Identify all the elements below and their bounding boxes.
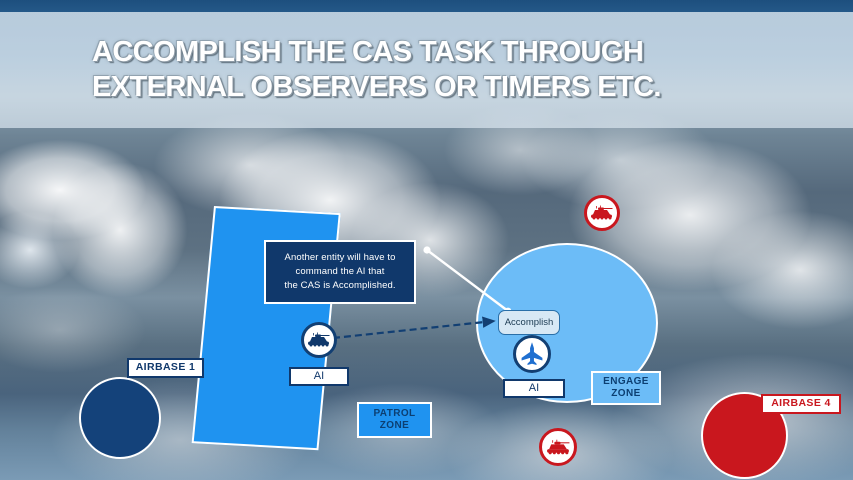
airbase-4-label: AIRBASE 4 (771, 397, 831, 410)
ground-ai-label: AI (314, 370, 324, 384)
enemy-tank-bottom[interactable] (539, 428, 577, 466)
fighter-jet-icon (519, 341, 545, 367)
patrol-zone-label-chip: PATROL ZONE (357, 402, 432, 438)
airbase-1-label-chip: AIRBASE 1 (127, 358, 204, 378)
airbase-1-marker[interactable] (79, 377, 161, 459)
enemy-tank-top[interactable] (584, 195, 620, 231)
ground-ai-unit[interactable] (301, 322, 337, 358)
tank-icon (590, 205, 614, 221)
patrol-zone-label: PATROL ZONE (373, 408, 415, 433)
accomplish-button[interactable]: Accomplish (498, 310, 560, 335)
callout-text: Another entity will have to command the … (284, 251, 395, 292)
ground-ai-label-chip: AI (289, 367, 349, 386)
airbase-4-label-chip: AIRBASE 4 (761, 394, 841, 414)
title-line-2: EXTERNAL OBSERVERS OR TIMERS ETC. (92, 70, 853, 105)
title-line-1: ACCOMPLISH THE CAS TASK THROUGH (92, 35, 853, 70)
accomplish-button-label: Accomplish (505, 317, 554, 328)
air-ai-label-chip: AI (503, 379, 565, 398)
slide-canvas: ACCOMPLISH THE CAS TASK THROUGH EXTERNAL… (0, 0, 853, 480)
air-ai-unit[interactable] (513, 335, 551, 373)
engage-zone-label-chip: ENGAGE ZONE (591, 371, 661, 405)
airbase-1-label: AIRBASE 1 (136, 361, 196, 374)
tank-icon (546, 439, 571, 456)
air-ai-label: AI (529, 382, 539, 396)
engage-zone-label: ENGAGE ZONE (603, 376, 649, 401)
tank-icon (307, 332, 331, 348)
title-banner: ACCOMPLISH THE CAS TASK THROUGH EXTERNAL… (0, 12, 853, 128)
callout-box: Another entity will have to command the … (264, 240, 416, 304)
